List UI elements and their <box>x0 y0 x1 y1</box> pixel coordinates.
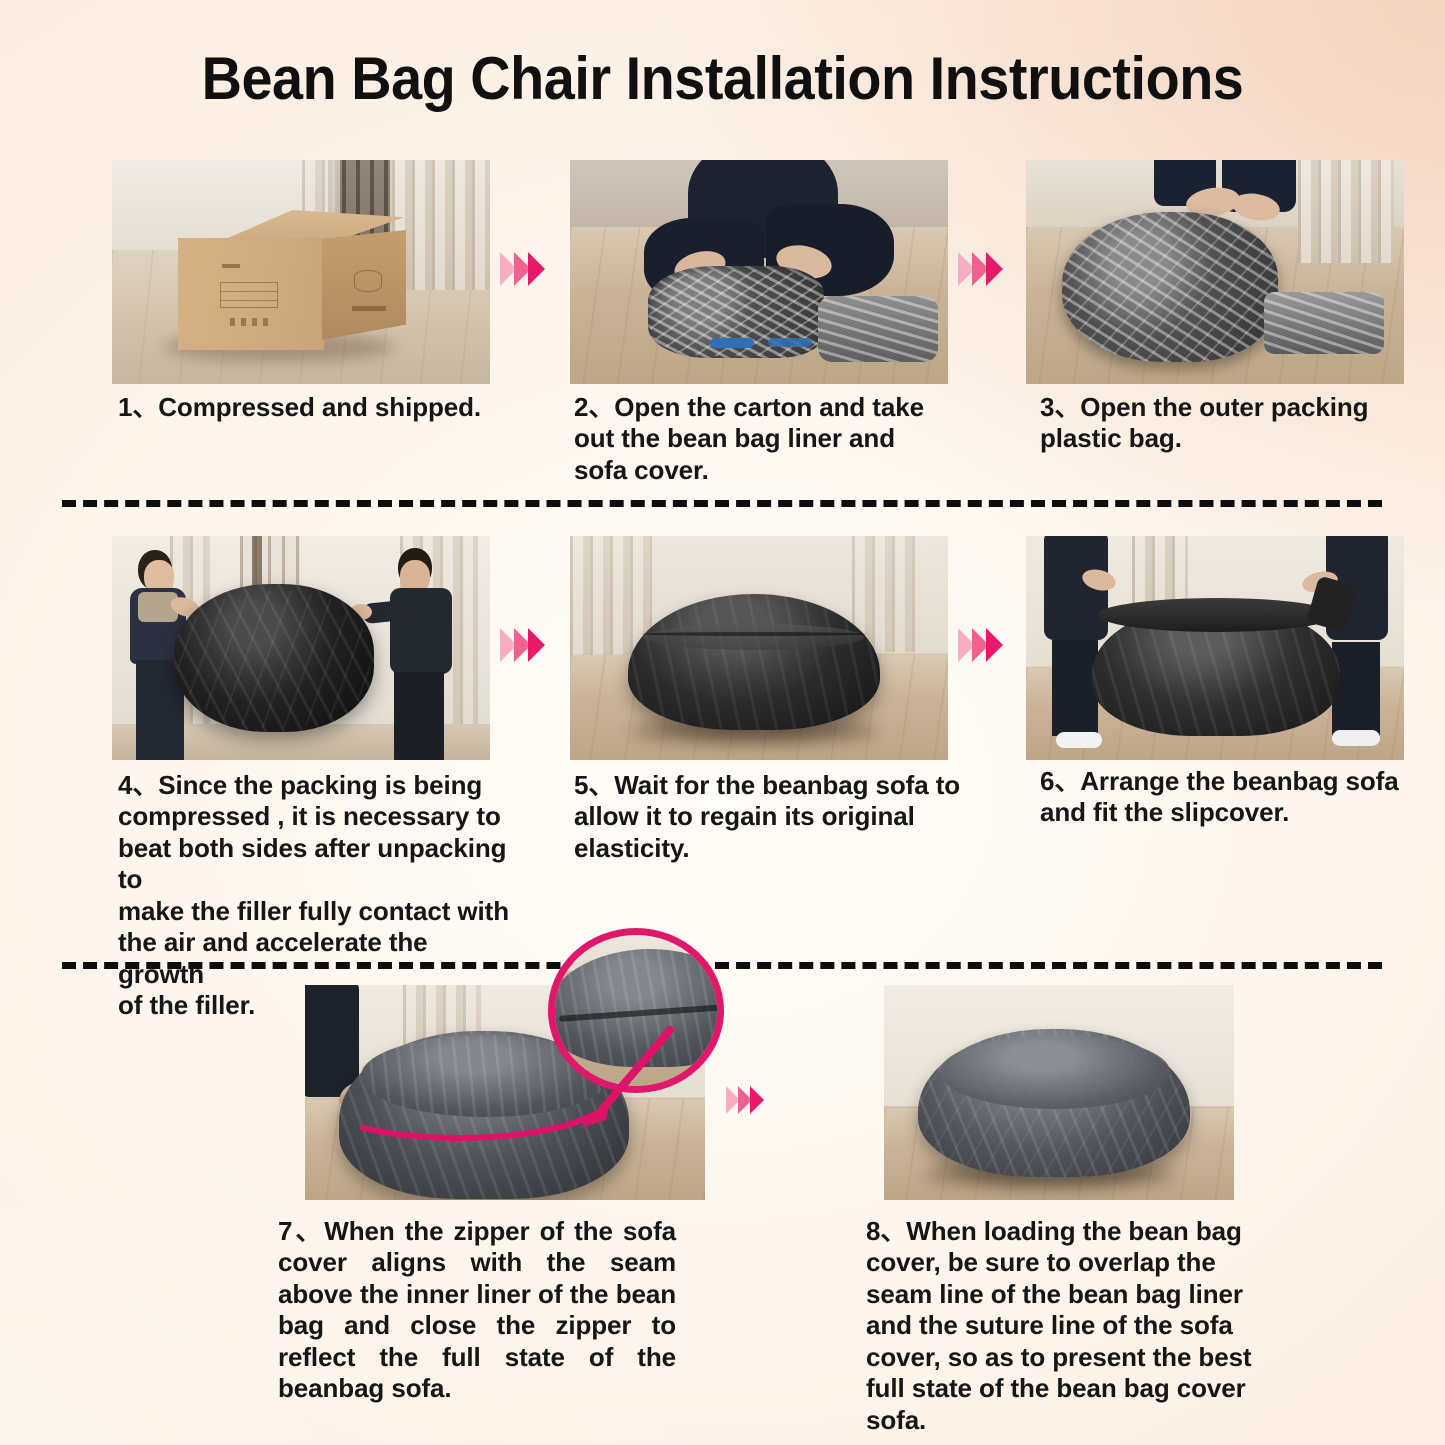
photo-step-3-open-plastic-bag <box>1026 160 1404 384</box>
callout-arrow-to-seam <box>520 1020 710 1150</box>
chevron-right-icon <box>528 628 545 662</box>
arrow-step-2-to-3 <box>958 252 1000 286</box>
photo-step-4-beat-both-sides <box>112 536 490 760</box>
photo-step-1-shipping-carton <box>112 160 490 384</box>
divider-row-2-3 <box>62 962 1382 969</box>
instruction-poster: Bean Bag Chair Installation Instructions <box>0 0 1445 1445</box>
photo-step-8-finished-bean-bag <box>884 985 1234 1200</box>
chevron-right-icon <box>528 252 545 286</box>
arrow-step-1-to-2 <box>500 252 542 286</box>
photo-step-2-open-carton <box>570 160 948 384</box>
caption-step-8: 8、When loading the bean bag cover, be su… <box>866 1216 1260 1436</box>
divider-row-1-2 <box>62 500 1382 507</box>
caption-step-6: 6、Arrange the beanbag sofa and fit the s… <box>1040 766 1420 829</box>
chevron-right-icon <box>986 628 1003 662</box>
chevron-right-icon <box>986 252 1003 286</box>
arrow-step-4-to-5 <box>500 628 542 662</box>
chevron-right-icon <box>750 1086 764 1114</box>
caption-step-3: 3、Open the outer packing plastic bag. <box>1040 392 1420 455</box>
photo-step-6-fit-slipcover <box>1026 536 1404 760</box>
arrow-step-5-to-6 <box>958 628 1000 662</box>
caption-step-7: 7、When the zipper of the sofa cover alig… <box>278 1216 676 1405</box>
arrow-step-7-to-8 <box>726 1086 762 1114</box>
caption-step-5: 5、Wait for the beanbag sofa to allow it … <box>574 770 974 864</box>
page-title: Bean Bag Chair Installation Instructions <box>51 44 1395 113</box>
caption-step-4: 4、Since the packing is being compressed … <box>118 770 518 1022</box>
photo-step-5-regain-elasticity <box>570 536 948 760</box>
caption-step-2: 2、Open the carton and take out the bean … <box>574 392 974 486</box>
caption-step-1: 1、Compressed and shipped. <box>118 392 518 423</box>
